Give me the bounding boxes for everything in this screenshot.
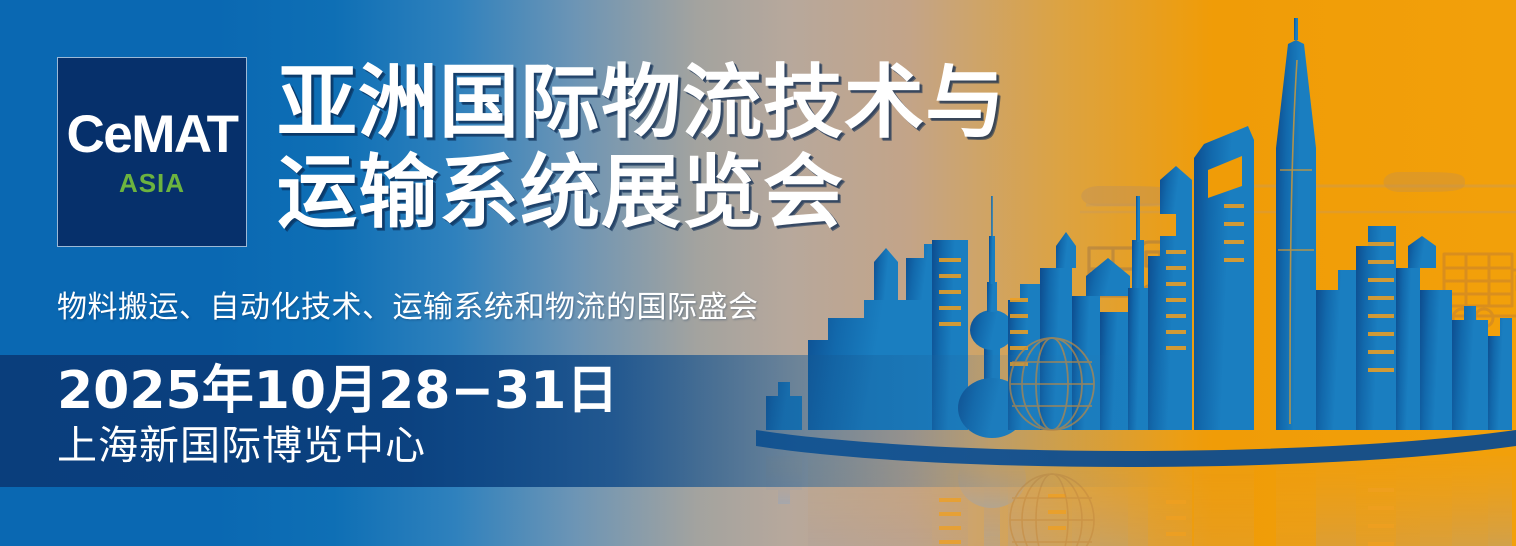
event-info: 2025年10月28−31日 上海新国际博览中心	[57, 363, 618, 470]
title-line-2: 运输系统展览会	[277, 148, 917, 238]
logo-region-label: ASIA	[119, 170, 185, 196]
subtitle-text: 物料搬运、自动化技术、运输系统和物流的国际盛会	[57, 282, 759, 326]
title-line-1: 亚洲国际物流技术与	[277, 58, 917, 148]
cemat-asia-banner: CeMAT ASIA 亚洲国际物流技术与 运输系统展览会 物料搬运、自动化技术、…	[0, 0, 1516, 546]
logo-wordmark: CeMAT	[66, 108, 237, 161]
page-title: 亚洲国际物流技术与 运输系统展览会	[277, 58, 917, 237]
event-venue: 上海新国际博览中心	[57, 423, 618, 470]
event-date: 2025年10月28−31日	[57, 363, 618, 419]
cemat-logo: CeMAT ASIA	[57, 57, 247, 247]
